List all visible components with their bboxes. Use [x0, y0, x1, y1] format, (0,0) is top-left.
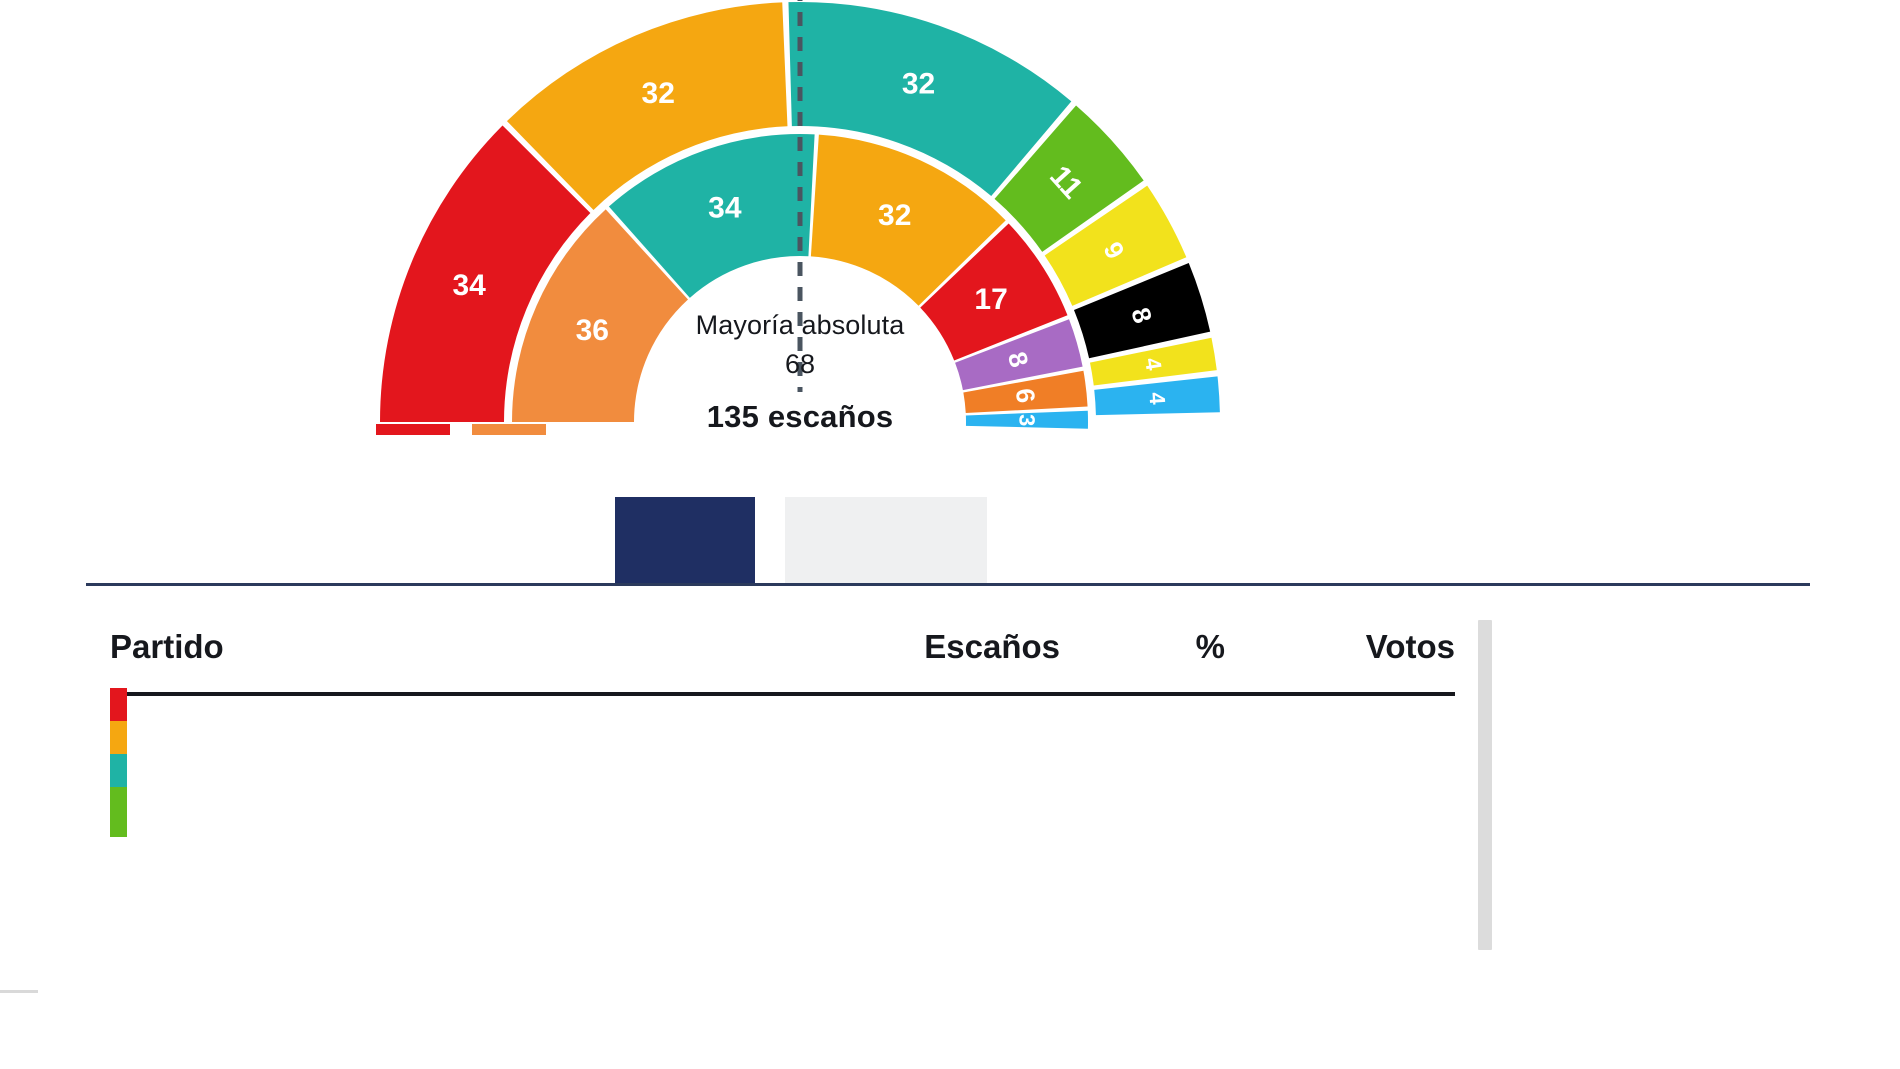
arc-segment-value: 32	[642, 77, 675, 110]
results-table: Partido Escaños % Votos	[110, 628, 1455, 828]
legend-swatch	[376, 424, 450, 435]
cell-votes	[1225, 795, 1455, 828]
table-scrollbar[interactable]	[1478, 620, 1492, 950]
cell-seats	[830, 762, 1060, 795]
total-seats-label: 135 escaños	[640, 399, 960, 435]
arc-segment-value: 4	[1144, 391, 1170, 406]
tab-underline-rule	[86, 583, 1810, 586]
col-header-votes: Votos	[1225, 628, 1455, 694]
party-color-swatch	[110, 787, 127, 837]
cell-votes	[1225, 729, 1455, 762]
majority-value: 68	[640, 344, 960, 385]
arc-segment-value: 32	[878, 199, 911, 232]
cell-percent	[1060, 795, 1225, 828]
arc-segment-value: 17	[974, 283, 1007, 316]
chart-center-text: Mayoría absoluta 68 135 escaños	[640, 306, 960, 435]
table-row[interactable]	[110, 694, 1455, 729]
tab-bar	[615, 497, 987, 584]
col-header-percent: %	[1060, 628, 1225, 694]
legend-item-2021	[376, 424, 450, 440]
arc-segment-value: 36	[576, 314, 609, 347]
tab-pactos[interactable]	[785, 497, 987, 584]
tab-2021[interactable]	[615, 497, 755, 584]
cell-seats	[830, 795, 1060, 828]
col-header-seats: Escaños	[830, 628, 1060, 694]
arc-segment-value: 3	[1014, 414, 1039, 426]
infographic-root: 34323211984436343217863 Mayoría absoluta…	[0, 0, 1900, 1069]
cell-party	[110, 729, 830, 762]
cell-party	[110, 795, 830, 828]
year-legend	[376, 424, 546, 440]
table-row[interactable]	[110, 729, 1455, 762]
table-header-row: Partido Escaños % Votos	[110, 628, 1455, 694]
cell-percent	[1060, 729, 1225, 762]
cell-seats	[830, 694, 1060, 729]
hemicycle-chart: 34323211984436343217863 Mayoría absoluta…	[0, 0, 1900, 470]
legend-item-2017	[472, 424, 546, 440]
table-row[interactable]	[110, 795, 1455, 828]
arc-segment-value: 34	[708, 191, 742, 224]
cell-party	[110, 762, 830, 795]
legend-swatch	[472, 424, 546, 435]
arc-segment-value: 34	[452, 269, 486, 302]
table-row[interactable]	[110, 762, 1455, 795]
cell-votes	[1225, 762, 1455, 795]
majority-label: Mayoría absoluta	[640, 306, 960, 344]
cell-percent	[1060, 762, 1225, 795]
results-table-area: Partido Escaños % Votos	[0, 600, 1900, 1069]
cell-percent	[1060, 694, 1225, 729]
cell-party	[110, 694, 830, 729]
col-header-party: Partido	[110, 628, 830, 694]
left-edge-divider	[0, 990, 38, 993]
arc-segment-value: 32	[902, 68, 935, 101]
cell-votes	[1225, 694, 1455, 729]
cell-seats	[830, 729, 1060, 762]
